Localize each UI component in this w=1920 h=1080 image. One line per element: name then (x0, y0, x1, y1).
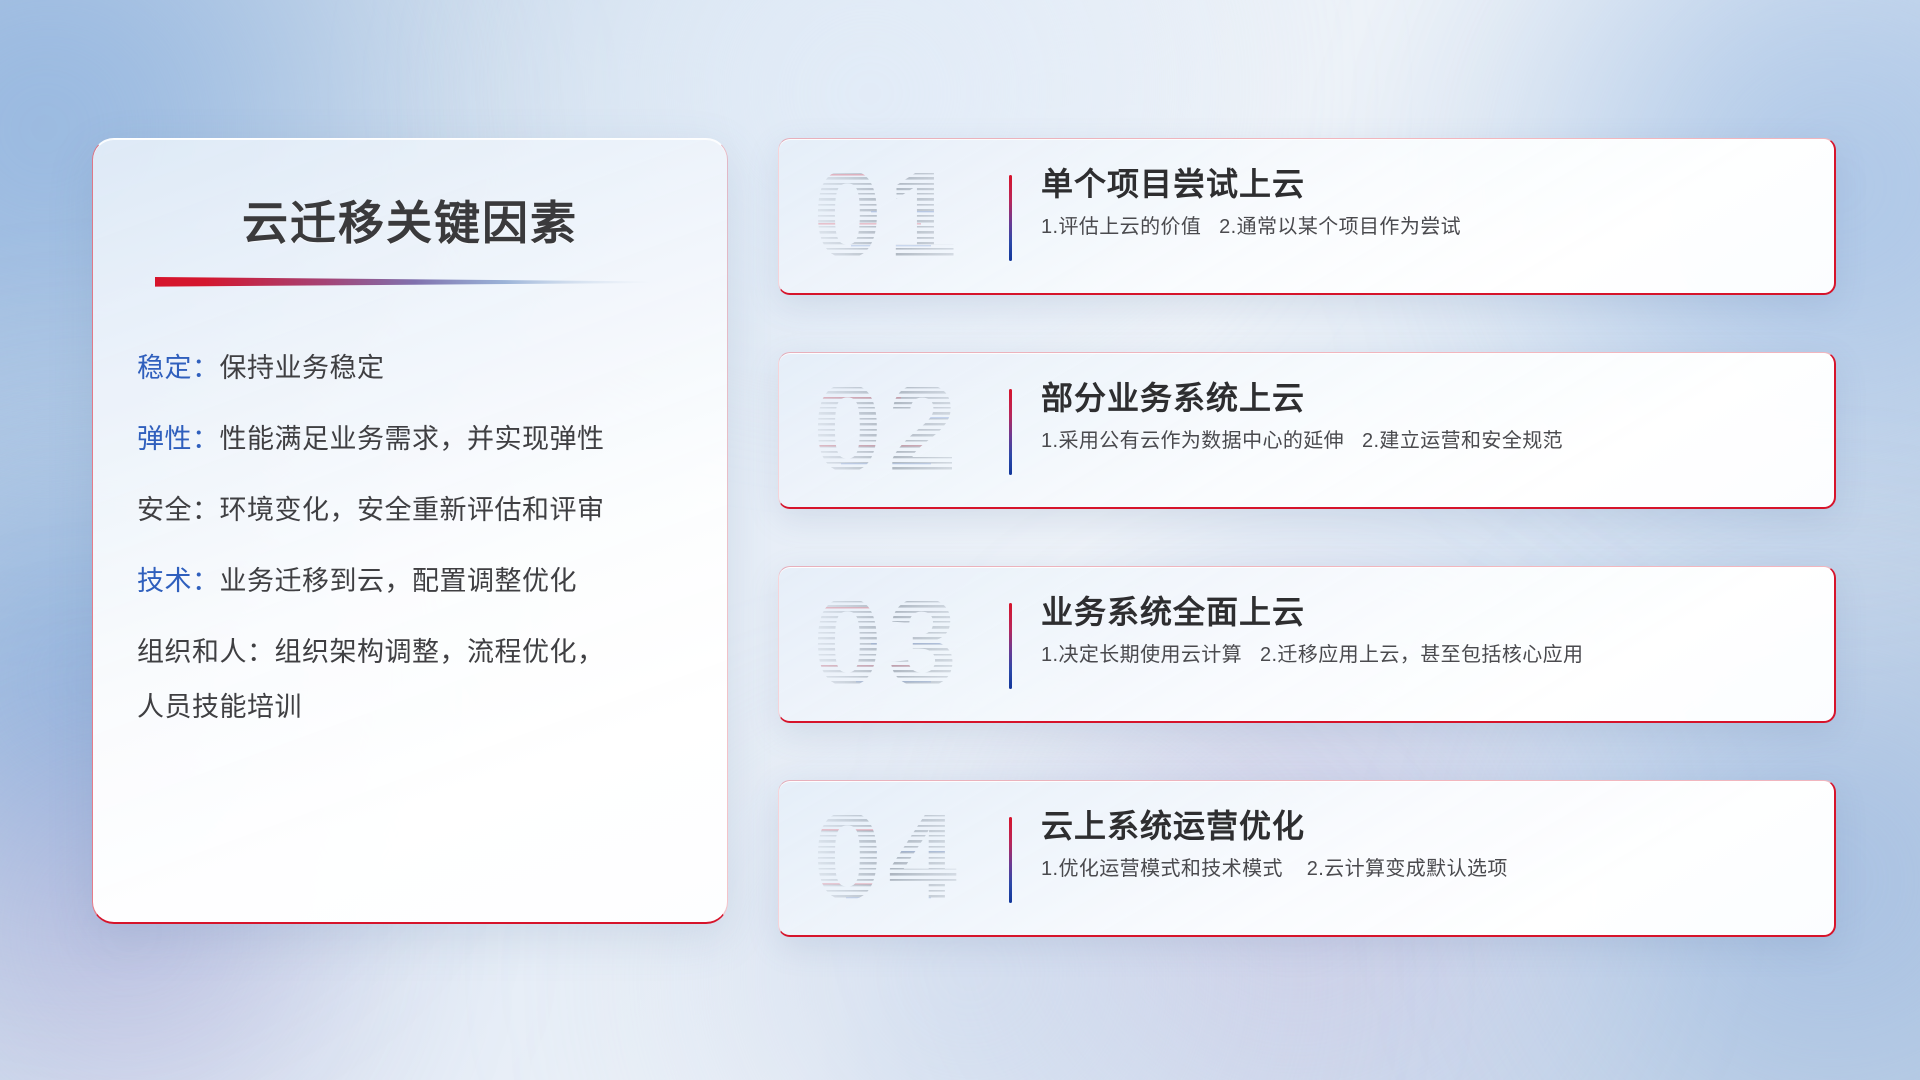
factor-value: 人员技能培训 (137, 692, 302, 722)
stage-title: 云上系统运营优化 (1041, 807, 1810, 846)
stage-accent-bar (1009, 175, 1012, 261)
stage-accent-bar (1009, 389, 1012, 475)
stage-card-body: 部分业务系统上云 1.采用公有云作为数据中心的延伸 2.建立运营和安全规范 (1041, 379, 1810, 454)
title-underline-gradient (155, 275, 655, 289)
stage-title: 部分业务系统上云 (1041, 379, 1810, 418)
factor-item-organization-continued: 人员技能培训 (137, 694, 697, 721)
stage-card-body: 云上系统运营优化 1.优化运营模式和技术模式 2.云计算变成默认选项 (1041, 807, 1810, 882)
factor-key: 弹性： (137, 424, 220, 454)
factor-key: 技术： (137, 566, 220, 596)
factor-value: 业务迁移到云，配置调整优化 (220, 566, 578, 596)
stage-number-01-icon: 01 (811, 153, 991, 283)
key-factors-panel: 云迁移关键因素 稳定：保持业 (92, 138, 728, 924)
factor-key: 组织和人： (137, 637, 275, 667)
factor-item-organization: 组织和人：组织架构调整，流程优化， (137, 639, 697, 666)
factor-item-security: 安全：环境变化，安全重新评估和评审 (137, 497, 697, 524)
stage-number-03-icon: 03 (811, 581, 991, 711)
stage-card-04[interactable]: 04 (778, 780, 1836, 937)
stage-accent-bar (1009, 817, 1012, 903)
factor-value: 环境变化，安全重新评估和评审 (220, 495, 605, 525)
stage-card-03[interactable]: 03 (778, 566, 1836, 723)
factor-item-technology: 技术：业务迁移到云，配置调整优化 (137, 568, 697, 595)
stage-number-02-icon: 02 (811, 367, 991, 497)
stage-description: 1.采用公有云作为数据中心的延伸 2.建立运营和安全规范 (1041, 428, 1810, 454)
stage-description: 1.决定长期使用云计算 2.迁移应用上云，甚至包括核心应用 (1041, 642, 1810, 668)
factor-key: 安全： (137, 495, 220, 525)
stage-accent-bar (1009, 603, 1012, 689)
stage-card-list: 01 (778, 138, 1836, 937)
factor-key: 稳定： (137, 353, 220, 383)
stage-title: 业务系统全面上云 (1041, 593, 1810, 632)
factor-value: 性能满足业务需求，并实现弹性 (220, 424, 605, 454)
page-title: 云迁移关键因素 (93, 187, 727, 253)
factor-value: 组织架构调整，流程优化， (275, 637, 605, 667)
factor-item-elasticity: 弹性：性能满足业务需求，并实现弹性 (137, 426, 697, 453)
factor-item-stability: 稳定：保持业务稳定 (137, 355, 697, 382)
stage-description: 1.优化运营模式和技术模式 2.云计算变成默认选项 (1041, 856, 1810, 882)
factor-list: 稳定：保持业务稳定 弹性：性能满足业务需求，并实现弹性 安全：环境变化，安全重新… (137, 355, 697, 721)
stage-title: 单个项目尝试上云 (1041, 165, 1810, 204)
stage-description: 1.评估上云的价值 2.通常以某个项目作为尝试 (1041, 214, 1810, 240)
stage-card-01[interactable]: 01 (778, 138, 1836, 295)
factor-value: 保持业务稳定 (220, 353, 385, 383)
stage-card-02[interactable]: 02 (778, 352, 1836, 509)
stage-card-body: 单个项目尝试上云 1.评估上云的价值 2.通常以某个项目作为尝试 (1041, 165, 1810, 240)
stage-number-04-icon: 04 (811, 795, 991, 925)
stage-card-body: 业务系统全面上云 1.决定长期使用云计算 2.迁移应用上云，甚至包括核心应用 (1041, 593, 1810, 668)
slide-canvas: 云迁移关键因素 稳定：保持业 (0, 0, 1920, 1080)
